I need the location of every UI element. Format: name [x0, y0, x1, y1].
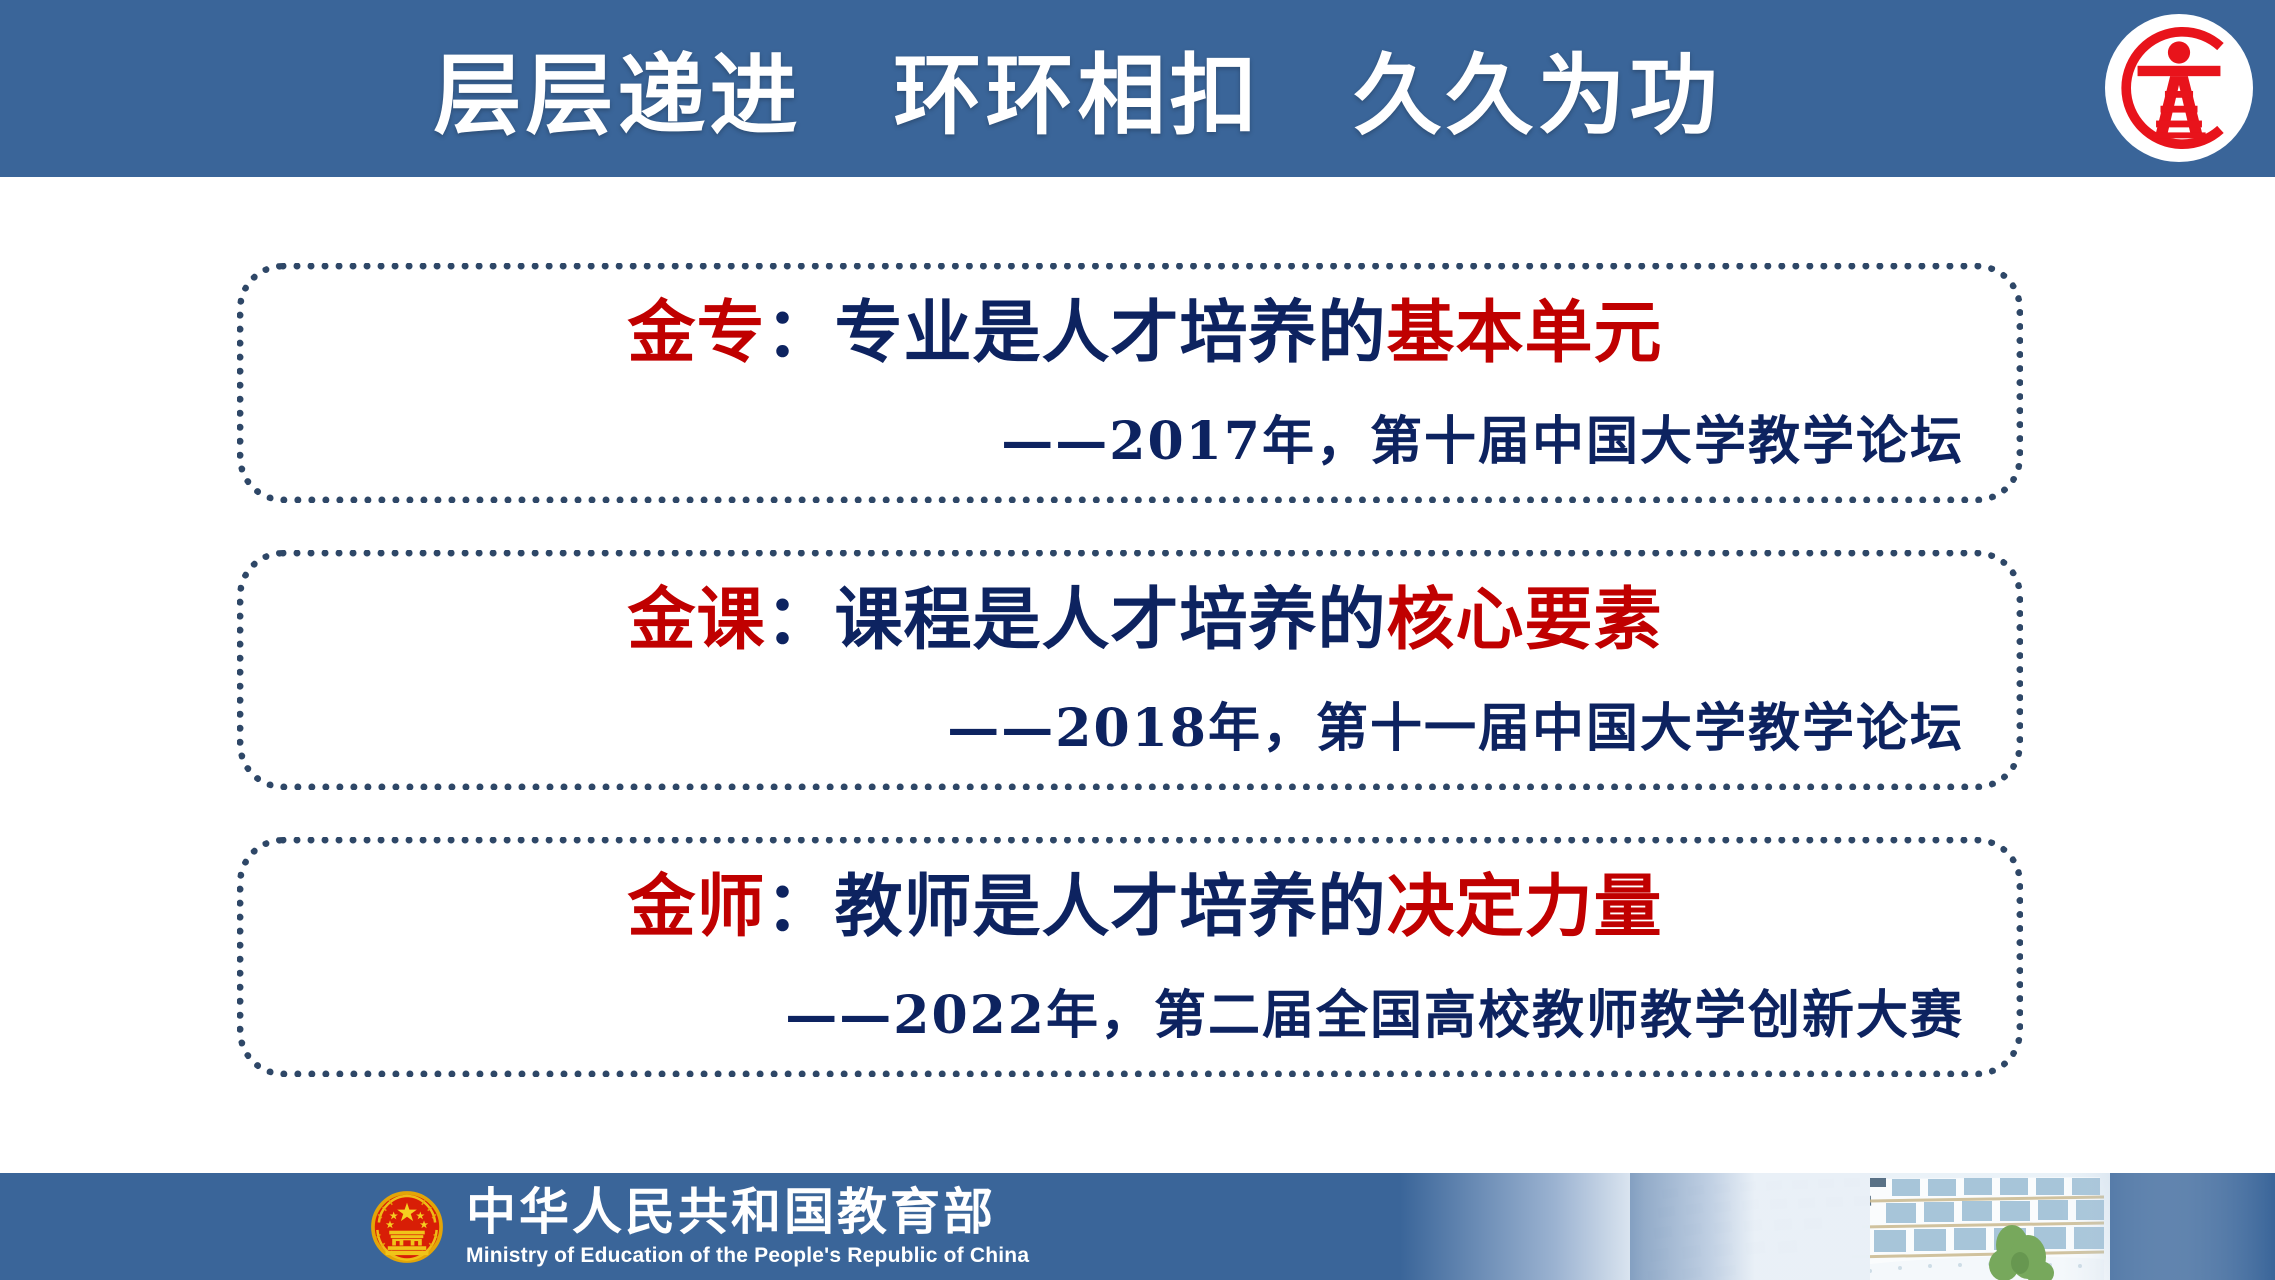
- card-citation: ——2018年，第十一届中国大学教学论坛: [947, 686, 1964, 761]
- card-middle-text: 课程是人才培养的: [835, 582, 1387, 658]
- cards-container: 金专：专业是人才培养的基本单元 ——2017年，第十届中国大学教学论坛 金课：课…: [237, 263, 2023, 1124]
- card-emphasis-text: 决定力量: [1387, 869, 1663, 945]
- card-middle-text: 教师是人才培养的: [835, 869, 1387, 945]
- card-jinke[interactable]: 金课：课程是人才培养的核心要素 ——2018年，第十一届中国大学教学论坛: [237, 550, 2023, 790]
- card-colon: ：: [765, 869, 834, 945]
- card-colon: ：: [765, 582, 834, 658]
- card-emphasis-text: 核心要素: [1387, 582, 1663, 658]
- card-keyword: 金师: [627, 869, 765, 945]
- card-middle-text: 专业是人才培养的: [835, 295, 1387, 371]
- card-keyword: 金课: [627, 582, 765, 658]
- card-keyword: 金专: [627, 295, 765, 371]
- page-title: 层层递进 环环相扣 久久为功: [0, 0, 2275, 177]
- slide-root: 层层递进 环环相扣 久久为功 金专：专业是人才培养的基本单元 ——2017年，第…: [0, 0, 2275, 1280]
- national-emblem-icon: [370, 1190, 444, 1264]
- footer-text-block: 中华人民共和国教育部 Ministry of Education of the …: [466, 1185, 1029, 1268]
- footer-organization-en: Ministry of Education of the People's Re…: [466, 1244, 1029, 1268]
- footer-bar: 中华人民共和国教育部 Ministry of Education of the …: [0, 1173, 2275, 1280]
- card-jinshi[interactable]: 金师：教师是人才培养的决定力量 ——2022年，第二届全国高校教师教学创新大赛: [237, 837, 2023, 1077]
- footer-branding: 中华人民共和国教育部 Ministry of Education of the …: [370, 1173, 1029, 1280]
- card-headline: 金师：教师是人才培养的决定力量: [244, 868, 2016, 946]
- card-citation: ——2017年，第十届中国大学教学论坛: [1001, 399, 1964, 474]
- card-jinzhuan[interactable]: 金专：专业是人才培养的基本单元 ——2017年，第十届中国大学教学论坛: [237, 263, 2023, 503]
- institution-logo-icon: [2105, 14, 2253, 162]
- footer-organization-cn: 中华人民共和国教育部: [466, 1185, 1029, 1239]
- card-headline: 金课：课程是人才培养的核心要素: [244, 581, 2016, 659]
- card-colon: ：: [765, 295, 834, 371]
- card-citation: ——2022年，第二届全国高校教师教学创新大赛: [785, 973, 1964, 1048]
- card-emphasis-text: 基本单元: [1387, 295, 1663, 371]
- card-headline: 金专：专业是人才培养的基本单元: [244, 294, 2016, 372]
- ministry-building-photo: [1400, 1173, 2275, 1280]
